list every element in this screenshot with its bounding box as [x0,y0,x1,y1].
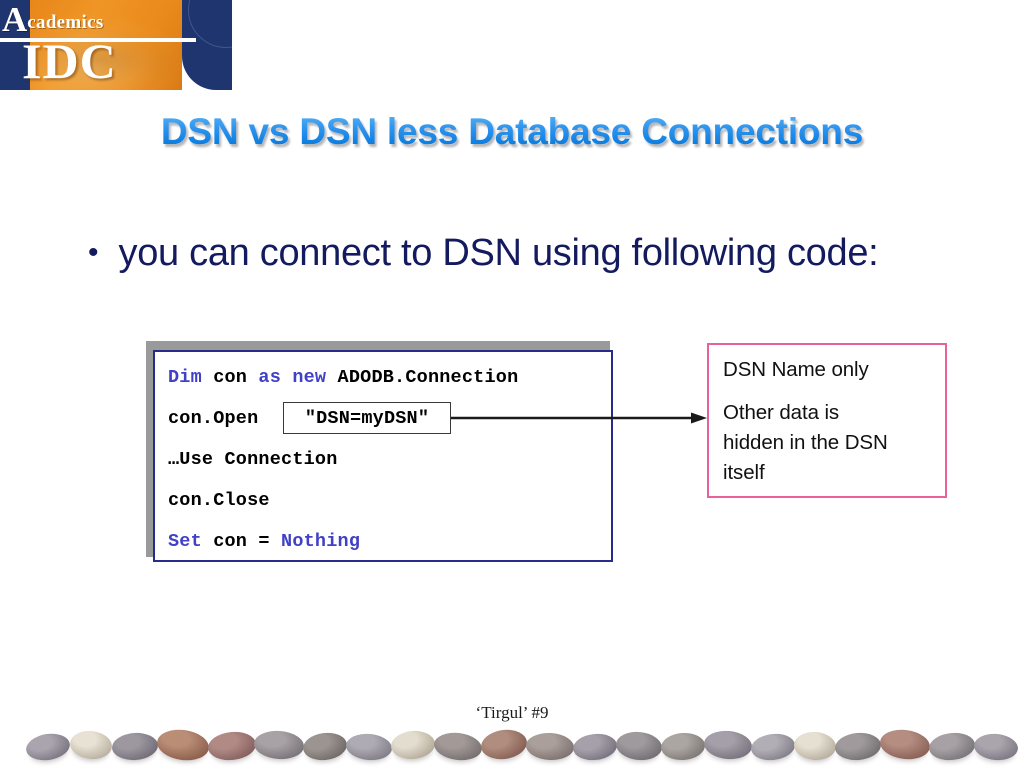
stone-2 [69,729,114,761]
stone-1 [24,731,72,764]
stone-15 [660,731,706,761]
stone-7 [302,730,349,762]
stone-12 [525,732,574,761]
stone-8 [345,732,393,762]
stone-16 [703,729,753,761]
stone-22 [973,732,1019,762]
callout-arrow-icon [451,411,707,425]
stone-6 [253,729,305,760]
stone-14 [615,730,664,763]
code-line-5: Set con = Nothing [168,531,360,552]
code-line-3: …Use Connection [168,449,338,470]
annotation-callout-box: DSN Name only Other data is hidden in th… [707,343,947,498]
page-title: DSN vs DSN less Database Connections [0,112,1024,153]
code-token-plain: con [202,367,259,388]
stone-18 [793,731,837,762]
stone-11 [479,727,529,762]
logo-idc-text: IDC [22,36,117,86]
code-token-plain: con.Open [168,408,258,429]
code-token-plain: ADODB.Connection [326,367,518,388]
code-token-keyword: Nothing [281,531,360,552]
decorative-stone-border [0,722,1024,768]
stone-19 [834,731,882,762]
annotation-line-3: hidden in the DSN [723,428,933,458]
stone-5 [207,730,258,763]
code-line-4: con.Close [168,490,270,511]
logo-academics-wordmark: Academics [2,2,182,37]
code-line-1: Dim con as new ADODB.Connection [168,367,518,388]
annotation-line-4: itself [723,458,933,488]
bullet-marker-icon: • [88,228,99,278]
dsn-connection-string-value: "DSN=myDSN" [305,408,429,429]
code-token-keyword: Set [168,531,202,552]
logo-academics-rest: cademics [27,12,103,33]
code-token-plain: con = [202,531,281,552]
stone-17 [750,731,797,762]
code-token-keyword: as new [258,367,326,388]
code-token-keyword: Dim [168,367,202,388]
stone-9 [390,729,436,761]
slide-footer-label: ‘Tirgul’ #9 [0,703,1024,723]
bullet-item-label: you can connect to DSN using following c… [119,228,879,278]
idc-academics-logo: Academics IDC [0,0,232,90]
logo-right-navy-band [182,0,232,90]
stone-20 [878,727,931,762]
bullet-list-item: • you can connect to DSN using following… [88,228,948,278]
code-line-2: con.Open [168,408,258,429]
stone-13 [572,732,618,762]
stone-4 [155,727,211,764]
stone-10 [433,730,484,763]
annotation-line-2: Other data is [723,398,933,428]
stone-3 [111,731,159,761]
stone-21 [928,731,977,763]
code-token-plain: con.Close [168,490,270,511]
code-sample-box: Dim con as new ADODB.Connection con.Open… [153,350,613,562]
dsn-connection-string-callout: "DSN=myDSN" [283,402,451,434]
annotation-line-1: DSN Name only [723,355,933,385]
code-token-plain: …Use Connection [168,449,338,470]
